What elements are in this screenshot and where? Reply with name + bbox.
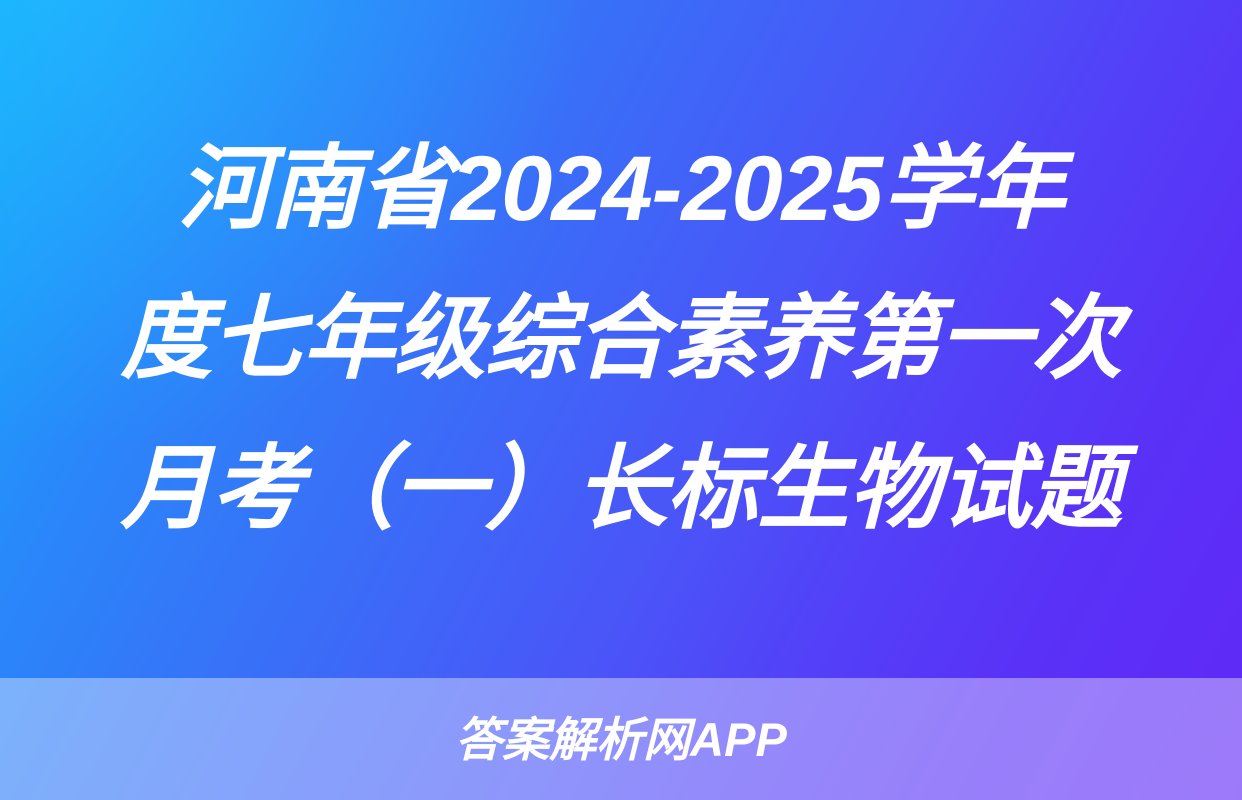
- cover-title-line-1: 河南省2024-2025学年: [62, 114, 1180, 264]
- exam-cover-card: 河南省2024-2025学年 度七年级综合素养第一次 月考（一）长标生物试题 答…: [0, 0, 1242, 800]
- cover-title-line-2: 度七年级综合素养第一次: [62, 264, 1180, 414]
- watermark-app-label: 答案解析网APP: [455, 716, 787, 763]
- cover-title-block: 河南省2024-2025学年 度七年级综合素养第一次 月考（一）长标生物试题: [0, 0, 1242, 678]
- cover-title-line-3: 月考（一）长标生物试题: [62, 414, 1180, 564]
- watermark-band: 答案解析网APP: [0, 678, 1242, 800]
